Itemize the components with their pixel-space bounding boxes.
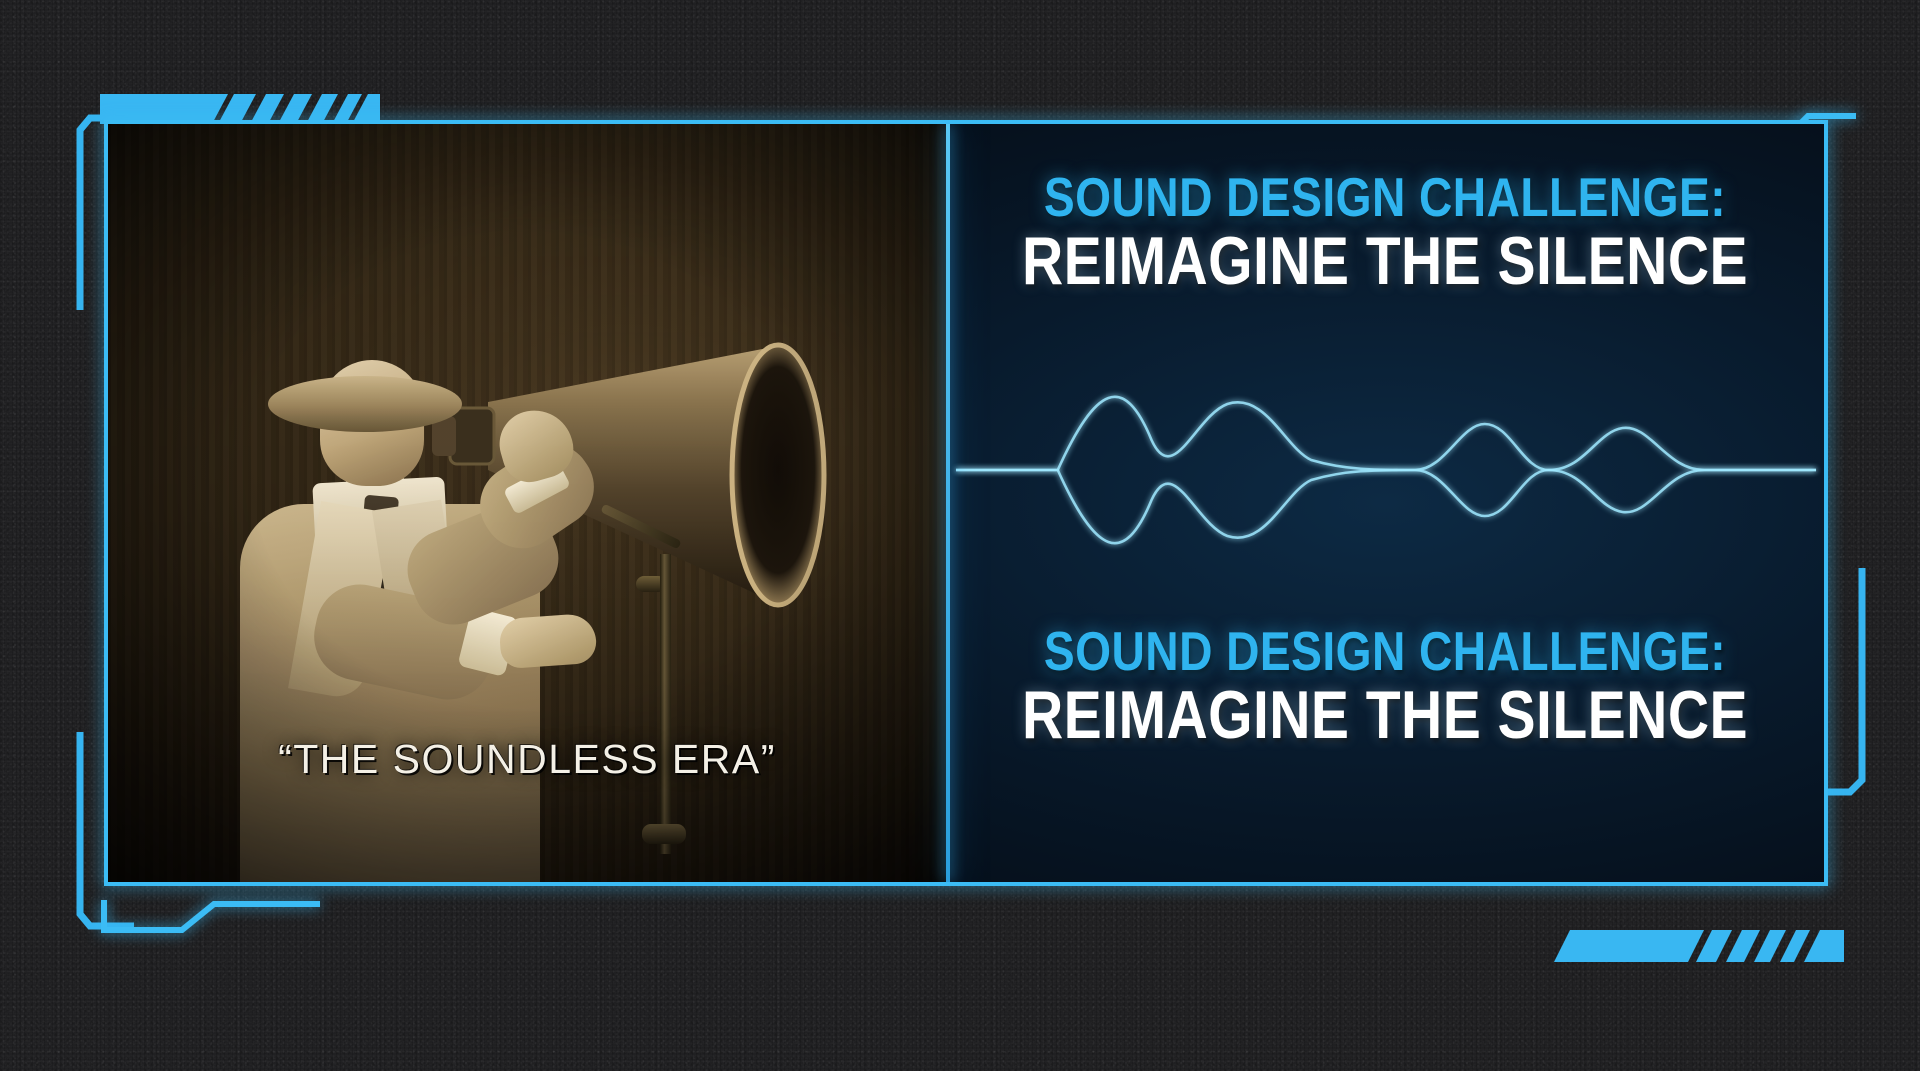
headline-top: SOUND DESIGN CHALLENGE: REIMAGINE THE SI…: [946, 170, 1824, 296]
hud-frame: “THE SOUNDLESS ERA” SOUND DESIGN CHALLEN…: [76, 88, 1866, 968]
headline-top-line1: SOUND DESIGN CHALLENGE:: [1016, 170, 1754, 225]
chamfer-bottom-left: [90, 890, 320, 950]
headline-bottom-line1: SOUND DESIGN CHALLENGE:: [1016, 624, 1754, 679]
headline-panel: SOUND DESIGN CHALLENGE: REIMAGINE THE SI…: [946, 124, 1824, 882]
headline-top-line2: REIMAGINE THE SILENCE: [1016, 227, 1754, 296]
photo-caption: “THE SOUNDLESS ERA”: [108, 736, 946, 783]
headline-bottom: SOUND DESIGN CHALLENGE: REIMAGINE THE SI…: [946, 624, 1824, 750]
stand-knob-lower: [642, 824, 686, 844]
figure-hand-lower: [498, 613, 597, 670]
bracket-right-edge: [1822, 568, 1866, 798]
vintage-photo-panel: “THE SOUNDLESS ERA”: [108, 124, 946, 882]
figure-cloche-hat: [284, 300, 444, 412]
center-divider: [946, 124, 950, 882]
audio-waveform-visualizer: [946, 320, 1824, 620]
headline-bottom-line2: REIMAGINE THE SILENCE: [1016, 681, 1754, 750]
content-area: “THE SOUNDLESS ERA” SOUND DESIGN CHALLEN…: [108, 124, 1824, 882]
hatch-bar-bottom-right: [1554, 924, 1844, 968]
stand-pole: [660, 554, 671, 854]
